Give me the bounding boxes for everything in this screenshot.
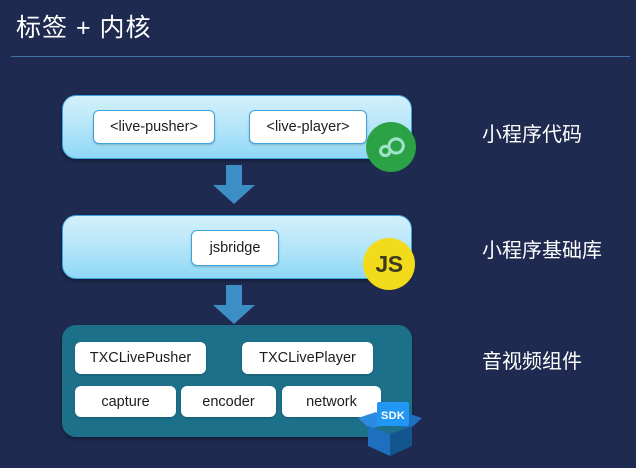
- tag-live-player: <live-player>: [249, 110, 367, 144]
- layer-box-miniapp-code: <live-pusher> <live-player>: [62, 95, 412, 159]
- side-label-av-components: 音视频组件: [482, 345, 582, 374]
- javascript-logo-icon: JS: [363, 238, 415, 290]
- side-label-base-library: 小程序基础库: [482, 234, 602, 263]
- tag-capture: capture: [75, 386, 176, 417]
- sdk-badge-label: SDK: [377, 405, 409, 427]
- page-title: 标签 + 内核: [16, 8, 152, 44]
- slide-canvas: 标签 + 内核 <live-pusher> <live-player> 小程序代…: [0, 0, 636, 468]
- tag-live-pusher: <live-pusher>: [93, 110, 215, 144]
- wechat-miniprogram-logo-icon: [366, 122, 416, 172]
- layer-box-base-library: jsbridge: [62, 215, 412, 279]
- tag-encoder: encoder: [181, 386, 276, 417]
- tag-txcliveplayer: TXCLivePlayer: [242, 342, 373, 374]
- side-label-miniapp-code: 小程序代码: [482, 118, 582, 147]
- arrow-down-icon-2: [211, 285, 257, 325]
- tag-jsbridge: jsbridge: [191, 230, 279, 266]
- arrow-down-icon-1: [211, 165, 257, 205]
- tag-txclivepusher: TXCLivePusher: [75, 342, 206, 374]
- sdk-box-icon: SDK: [356, 396, 424, 458]
- title-divider: [11, 56, 630, 57]
